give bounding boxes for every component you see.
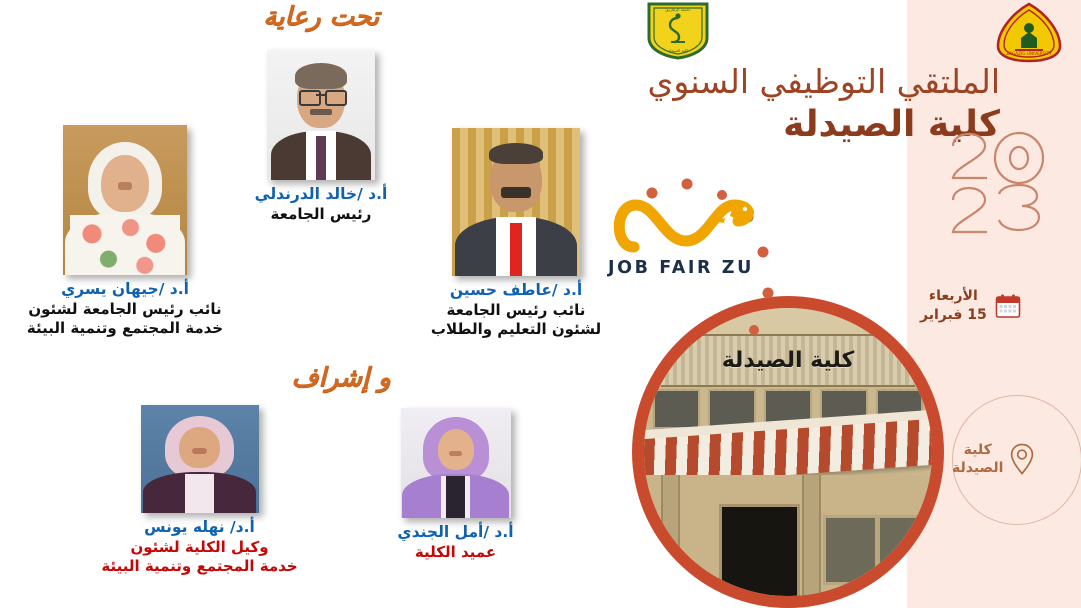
- location-line-1: كلية: [952, 441, 1003, 459]
- event-location: كلية الصيدلة: [952, 432, 1070, 486]
- event-location-text: كلية الصيدلة: [952, 441, 1003, 477]
- person-card-dean: أ.د /أمل الجندي عميد الكلية: [348, 408, 563, 562]
- person-role: رئيس الجامعة: [228, 205, 414, 224]
- event-date: الأربعاء 15 فبراير: [920, 280, 1070, 332]
- avatar: [401, 408, 511, 518]
- person-role: نائب رئيس الجامعة لشئون التعليم والطلاب: [396, 301, 636, 339]
- avatar: [63, 125, 187, 275]
- title-line-1: الملتقي التوظيفي السنوي: [647, 62, 1000, 101]
- person-name: أ.د /خالد الدرندلي: [228, 185, 414, 204]
- person-role: وكيل الكلية لشئون خدمة المجتمع وتنمية ال…: [72, 538, 327, 576]
- photo-inner: كلية الصيدلة: [644, 308, 932, 596]
- poster-canvas: جامعة الزقازيق كلية الصيدلة ZAGAZIG UNIV…: [0, 0, 1081, 608]
- faculty-of-pharmacy-logo: جامعة الزقازيق كلية الصيدلة: [645, 2, 711, 60]
- person-name: أ.د /أمل الجندي: [348, 523, 563, 542]
- person-card-vice-dean: أ.د/ نهله يونس وكيل الكلية لشئون خدمة ال…: [72, 405, 327, 576]
- poster-title: الملتقي التوظيفي السنوي كلية الصيدلة: [600, 63, 1000, 146]
- person-role: عميد الكلية: [348, 543, 563, 562]
- map-pin-icon: [1009, 443, 1035, 475]
- title-line-2: كلية الصيدلة: [600, 104, 1000, 146]
- person-card-rector: أ.د /خالد الدرندلي رئيس الجامعة: [228, 50, 414, 224]
- year-2023-graphic: [947, 126, 1057, 238]
- supervision-kicker: و إشراف: [256, 363, 426, 393]
- event-date-value: 15 فبراير: [920, 306, 987, 325]
- person-role: نائب رئيس الجامعة لشئون خدمة المجتمع وتن…: [0, 300, 250, 338]
- event-day: الأربعاء: [920, 287, 987, 306]
- person-name: أ.د /جيهان يسري: [0, 280, 250, 299]
- building-sign-text: كلية الصيدلة: [722, 348, 855, 373]
- job-fair-wordmark: JOB FAIR ZU: [608, 258, 768, 278]
- svg-text:ZAGAZIG UNIVERSITY: ZAGAZIG UNIVERSITY: [1006, 51, 1052, 56]
- avatar: [452, 128, 580, 276]
- person-name: أ.د /عاطف حسين: [396, 281, 636, 300]
- svg-text:جامعة الزقازيق: جامعة الزقازيق: [665, 7, 691, 12]
- event-date-text: الأربعاء 15 فبراير: [920, 287, 987, 325]
- avatar: [141, 405, 259, 513]
- location-line-2: الصيدلة: [952, 459, 1003, 477]
- calendar-icon: [995, 293, 1021, 319]
- person-card-vp-community: أ.د /جيهان يسري نائب رئيس الجامعة لشئون …: [0, 125, 250, 338]
- person-card-vp-education: أ.د /عاطف حسين نائب رئيس الجامعة لشئون ا…: [396, 128, 636, 339]
- svg-text:كلية الصيدلة: كلية الصيدلة: [668, 48, 688, 53]
- avatar: [267, 50, 375, 180]
- snake-infinity-icon: [612, 185, 762, 260]
- person-name: أ.د/ نهله يونس: [72, 518, 327, 537]
- sponsor-kicker: تحت رعاية: [236, 2, 406, 32]
- zagazig-university-logo: ZAGAZIG UNIVERSITY: [993, 2, 1065, 64]
